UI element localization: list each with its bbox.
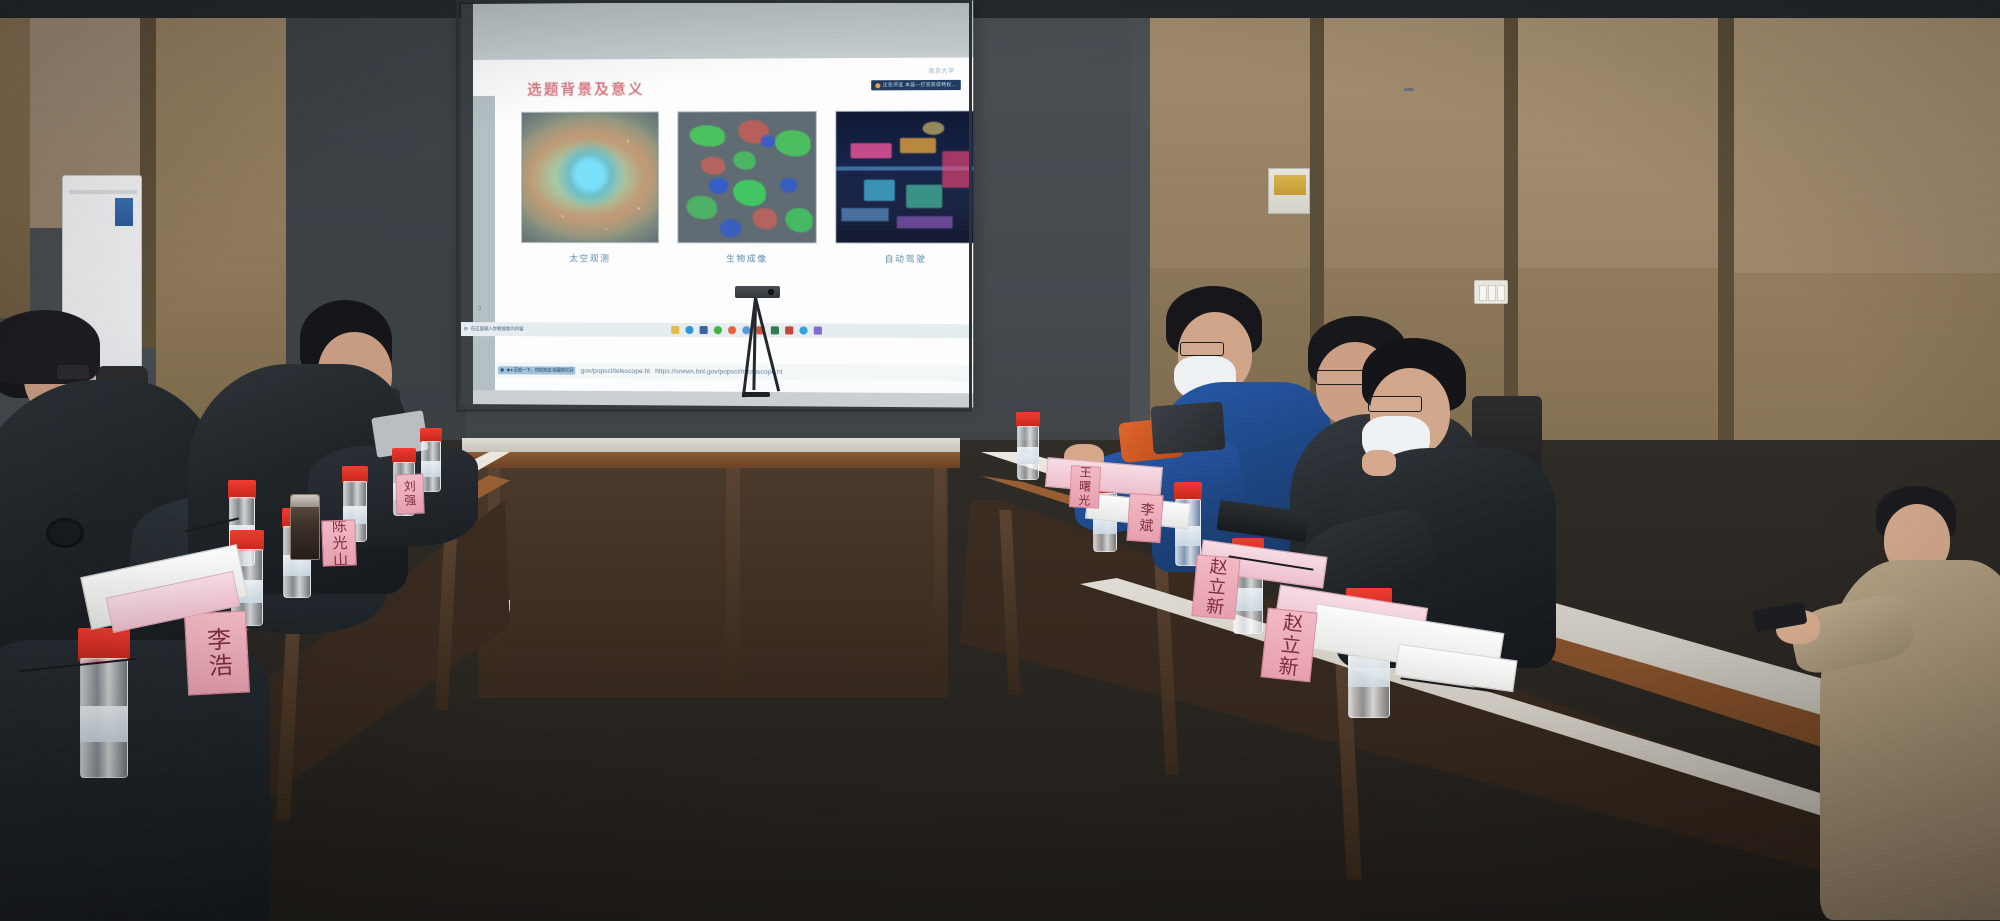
figure-biological-imaging: 生物成像 [677, 111, 817, 265]
taskbar-search-input[interactable]: 在这里输入你要搜索的内容 [471, 326, 524, 332]
projection-screen: 3 南京大学 正在评选 本届—打赏获得特权... 选题背景及意义 太空观测 [461, 0, 973, 407]
media-icon[interactable] [814, 326, 822, 334]
figure-autonomous-driving: 自动驾驶 [835, 110, 973, 265]
glasses-icon [1368, 396, 1422, 412]
name-card: 李浩 [184, 610, 250, 695]
figure-caption: 太空观测 [521, 252, 659, 264]
water-bottle[interactable] [1016, 412, 1040, 480]
name-card: 王曙光 [1069, 465, 1101, 509]
camera-lens-icon [768, 289, 774, 295]
name-card: 赵立新 [1191, 554, 1240, 620]
tripod-base [742, 392, 770, 397]
conference-room-photo: 3 南京大学 正在评选 本届—打赏获得特权... 选题背景及意义 太空观测 [0, 0, 2000, 921]
name-card-text: 赵立新 [1200, 556, 1231, 618]
figure-caption: 生物成像 [677, 252, 817, 264]
shield-icon: ◉ [500, 367, 504, 373]
figure-space-observation: 太空观测 [521, 111, 659, 264]
excel-icon[interactable] [771, 326, 779, 334]
name-card: 李斌 [1126, 493, 1163, 543]
ceiling-band [0, 0, 2000, 18]
wood-panel-right-1 [1150, 18, 1310, 268]
wechat-icon[interactable] [714, 326, 722, 334]
ac-vent [69, 190, 137, 194]
url-text-2[interactable]: https://snews.bnl.gov/popsci/microscope.… [655, 368, 782, 376]
name-card-text: 王曙光 [1075, 466, 1094, 509]
fluorescent-cell-microscopy-image [677, 111, 817, 244]
qq-icon[interactable] [799, 326, 807, 334]
water-bottle[interactable] [78, 628, 130, 778]
hand [1362, 450, 1396, 476]
bookmark-chip[interactable]: ◉ ★♠ 百度一下，你就知道 收藏夹栏目 [498, 366, 576, 374]
screen-left-edge [461, 4, 473, 404]
light-switch-plate[interactable] [1474, 280, 1508, 304]
table-leg [726, 468, 740, 696]
badge-dot-icon [876, 83, 881, 88]
name-card-text: 李浩 [198, 626, 236, 680]
name-card-text: 陈光山 [328, 519, 351, 566]
wall-sign-inner [1274, 175, 1306, 195]
windows-taskbar[interactable]: ⊞ 在这里输入你要搜索的内容 [461, 322, 973, 338]
jacket-toggle [46, 518, 84, 548]
slide-notification-badge[interactable]: 正在评选 本届—打赏获得特权... [872, 80, 961, 91]
center-conference-table-top [462, 438, 960, 452]
browser-url-bar[interactable]: ◉ ★♠ 百度一下，你就知道 收藏夹栏目 gov/popsci/telescop… [495, 362, 973, 381]
slide-title: 选题背景及意义 [527, 78, 645, 100]
slide-watermark: 南京大学 [929, 67, 955, 75]
wood-panel-left-1 [0, 18, 30, 318]
ceiling-fixture-mark [1404, 88, 1414, 91]
camera-on-tripod [735, 286, 780, 298]
powerpoint-thumbnail-rail[interactable] [473, 96, 495, 390]
slide-number-label: 3 [478, 306, 481, 312]
name-card-text: 刘强 [401, 480, 419, 509]
start-button-icon[interactable]: ⊞ [464, 326, 468, 332]
thermos-cup[interactable] [290, 494, 320, 560]
attendee-far-right [1840, 486, 2000, 921]
edge-icon[interactable] [685, 326, 693, 334]
center-conference-table-edge [462, 452, 960, 468]
screen-top-strip [473, 0, 973, 60]
table-leg [934, 468, 946, 678]
nebula-space-telescope-image [521, 111, 659, 243]
folder-icon[interactable] [671, 326, 679, 334]
name-card-text: 赵立新 [1271, 611, 1307, 680]
slide-figure-row: 太空观测 [521, 110, 973, 265]
glasses-icon [1180, 342, 1224, 356]
wall-sign [1268, 168, 1310, 214]
wood-panel-right-9 [1718, 18, 1734, 458]
wood-panel-right-0 [1130, 18, 1150, 448]
name-card: 陈光山 [321, 519, 357, 566]
chrome-icon[interactable] [728, 326, 736, 334]
glasses-icon [56, 364, 90, 380]
taskbar-icon-group[interactable] [671, 326, 822, 335]
word-icon[interactable] [700, 326, 708, 334]
center-conference-table-front [478, 468, 948, 698]
wood-panel-right-4 [1324, 18, 1504, 268]
figure-caption: 自动驾驶 [835, 253, 973, 265]
name-card-text: 李斌 [1134, 501, 1156, 534]
url-text-1[interactable]: gov/popsci/telescope.ht [581, 367, 651, 374]
dark-bag[interactable] [1150, 402, 1225, 455]
autonomous-driving-night-street-image [835, 110, 973, 243]
name-card: 赵立新 [1260, 608, 1317, 683]
badge-label: 正在评选 本届—打赏获得特权... [883, 80, 957, 90]
name-card: 刘强 [395, 474, 424, 515]
powerpoint-window: 3 南京大学 正在评选 本届—打赏获得特权... 选题背景及意义 太空观测 [473, 57, 973, 393]
ac-sticker [115, 198, 133, 226]
wood-panel-right-7 [1518, 18, 1718, 268]
pdf-icon[interactable] [785, 326, 793, 334]
wood-panel-left-3 [140, 18, 156, 348]
wood-panel-right-10 [1734, 18, 2000, 273]
slide-canvas: 南京大学 正在评选 本届—打赏获得特权... 选题背景及意义 太空观测 [495, 57, 973, 364]
bookmark-chip-label: ★♠ 百度一下，你就知道 收藏夹栏目 [506, 367, 573, 373]
